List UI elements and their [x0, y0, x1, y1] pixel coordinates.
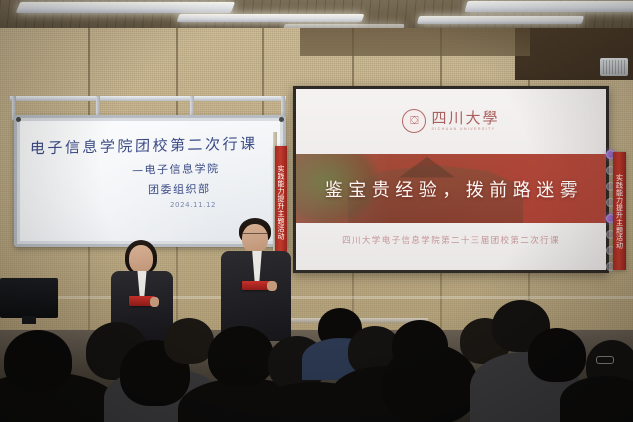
projection-screen: ⛋ 四川大學 SICHUAN UNIVERSITY 鉴宝贵经验，拨前路迷雾 四川…	[293, 86, 609, 273]
logo-wordmark: 四川大學 SICHUAN UNIVERSITY	[431, 111, 499, 132]
university-seal-icon: ⛋	[402, 109, 426, 133]
audience-head	[4, 330, 72, 392]
whiteboard-clip	[16, 117, 21, 122]
vertical-banner-right: 实践能力提升主题活动	[613, 152, 626, 270]
audience-head	[164, 318, 214, 364]
whiteboard-subline-1: —电子信息学院	[132, 160, 220, 178]
university-logo: ⛋ 四川大學 SICHUAN UNIVERSITY	[296, 109, 606, 133]
presenter-face	[129, 245, 153, 273]
presenter-hand	[150, 297, 159, 307]
slide-surface: ⛋ 四川大學 SICHUAN UNIVERSITY 鉴宝贵经验，拨前路迷雾 四川…	[296, 89, 606, 270]
wall-rail	[10, 96, 286, 101]
podium-monitor	[0, 278, 58, 318]
banner-text-right: 实践能力提升主题活动	[615, 174, 625, 249]
monitor-stand	[22, 316, 36, 324]
slide-title: 鉴宝贵经验，拨前路迷雾	[296, 154, 606, 223]
projector-unit	[600, 58, 628, 76]
projector-vent	[603, 60, 625, 74]
whiteboard-heading: 电子信息学院团校第二次行课	[30, 133, 258, 159]
presenter-glasses	[243, 233, 267, 239]
whiteboard-date: 2024.11.12	[170, 201, 216, 209]
logo-name-cn: 四川大學	[431, 111, 499, 127]
presenter-hand	[267, 281, 277, 291]
presenter-right	[215, 218, 297, 340]
lecture-hall-photo: 电子信息学院团校第二次行课 —电子信息学院 团委组织部 2024.11.12 ⛋…	[0, 0, 633, 422]
whiteboard-clip	[279, 117, 284, 122]
audience-glasses	[596, 356, 614, 364]
ceiling-light-fixture	[417, 16, 584, 24]
logo-name-en: SICHUAN UNIVERSITY	[431, 127, 495, 131]
wall-trim	[0, 296, 633, 299]
ceiling-light-fixture	[464, 1, 633, 12]
slide-subtitle: 四川大学电子信息学院第二十三届团校第二次行课	[342, 234, 560, 246]
whiteboard-subline-2: 团委组织部	[148, 180, 211, 197]
audience-head	[528, 328, 586, 382]
audience-head	[208, 326, 274, 386]
ceiling-light-fixture	[177, 14, 365, 22]
ceiling-light-fixture	[16, 2, 235, 13]
slide-hero-image: 鉴宝贵经验，拨前路迷雾	[296, 154, 606, 223]
slide-footer-band: 四川大学电子信息学院第二十三届团校第二次行课	[296, 223, 606, 270]
upper-wall-shadow	[300, 28, 530, 56]
